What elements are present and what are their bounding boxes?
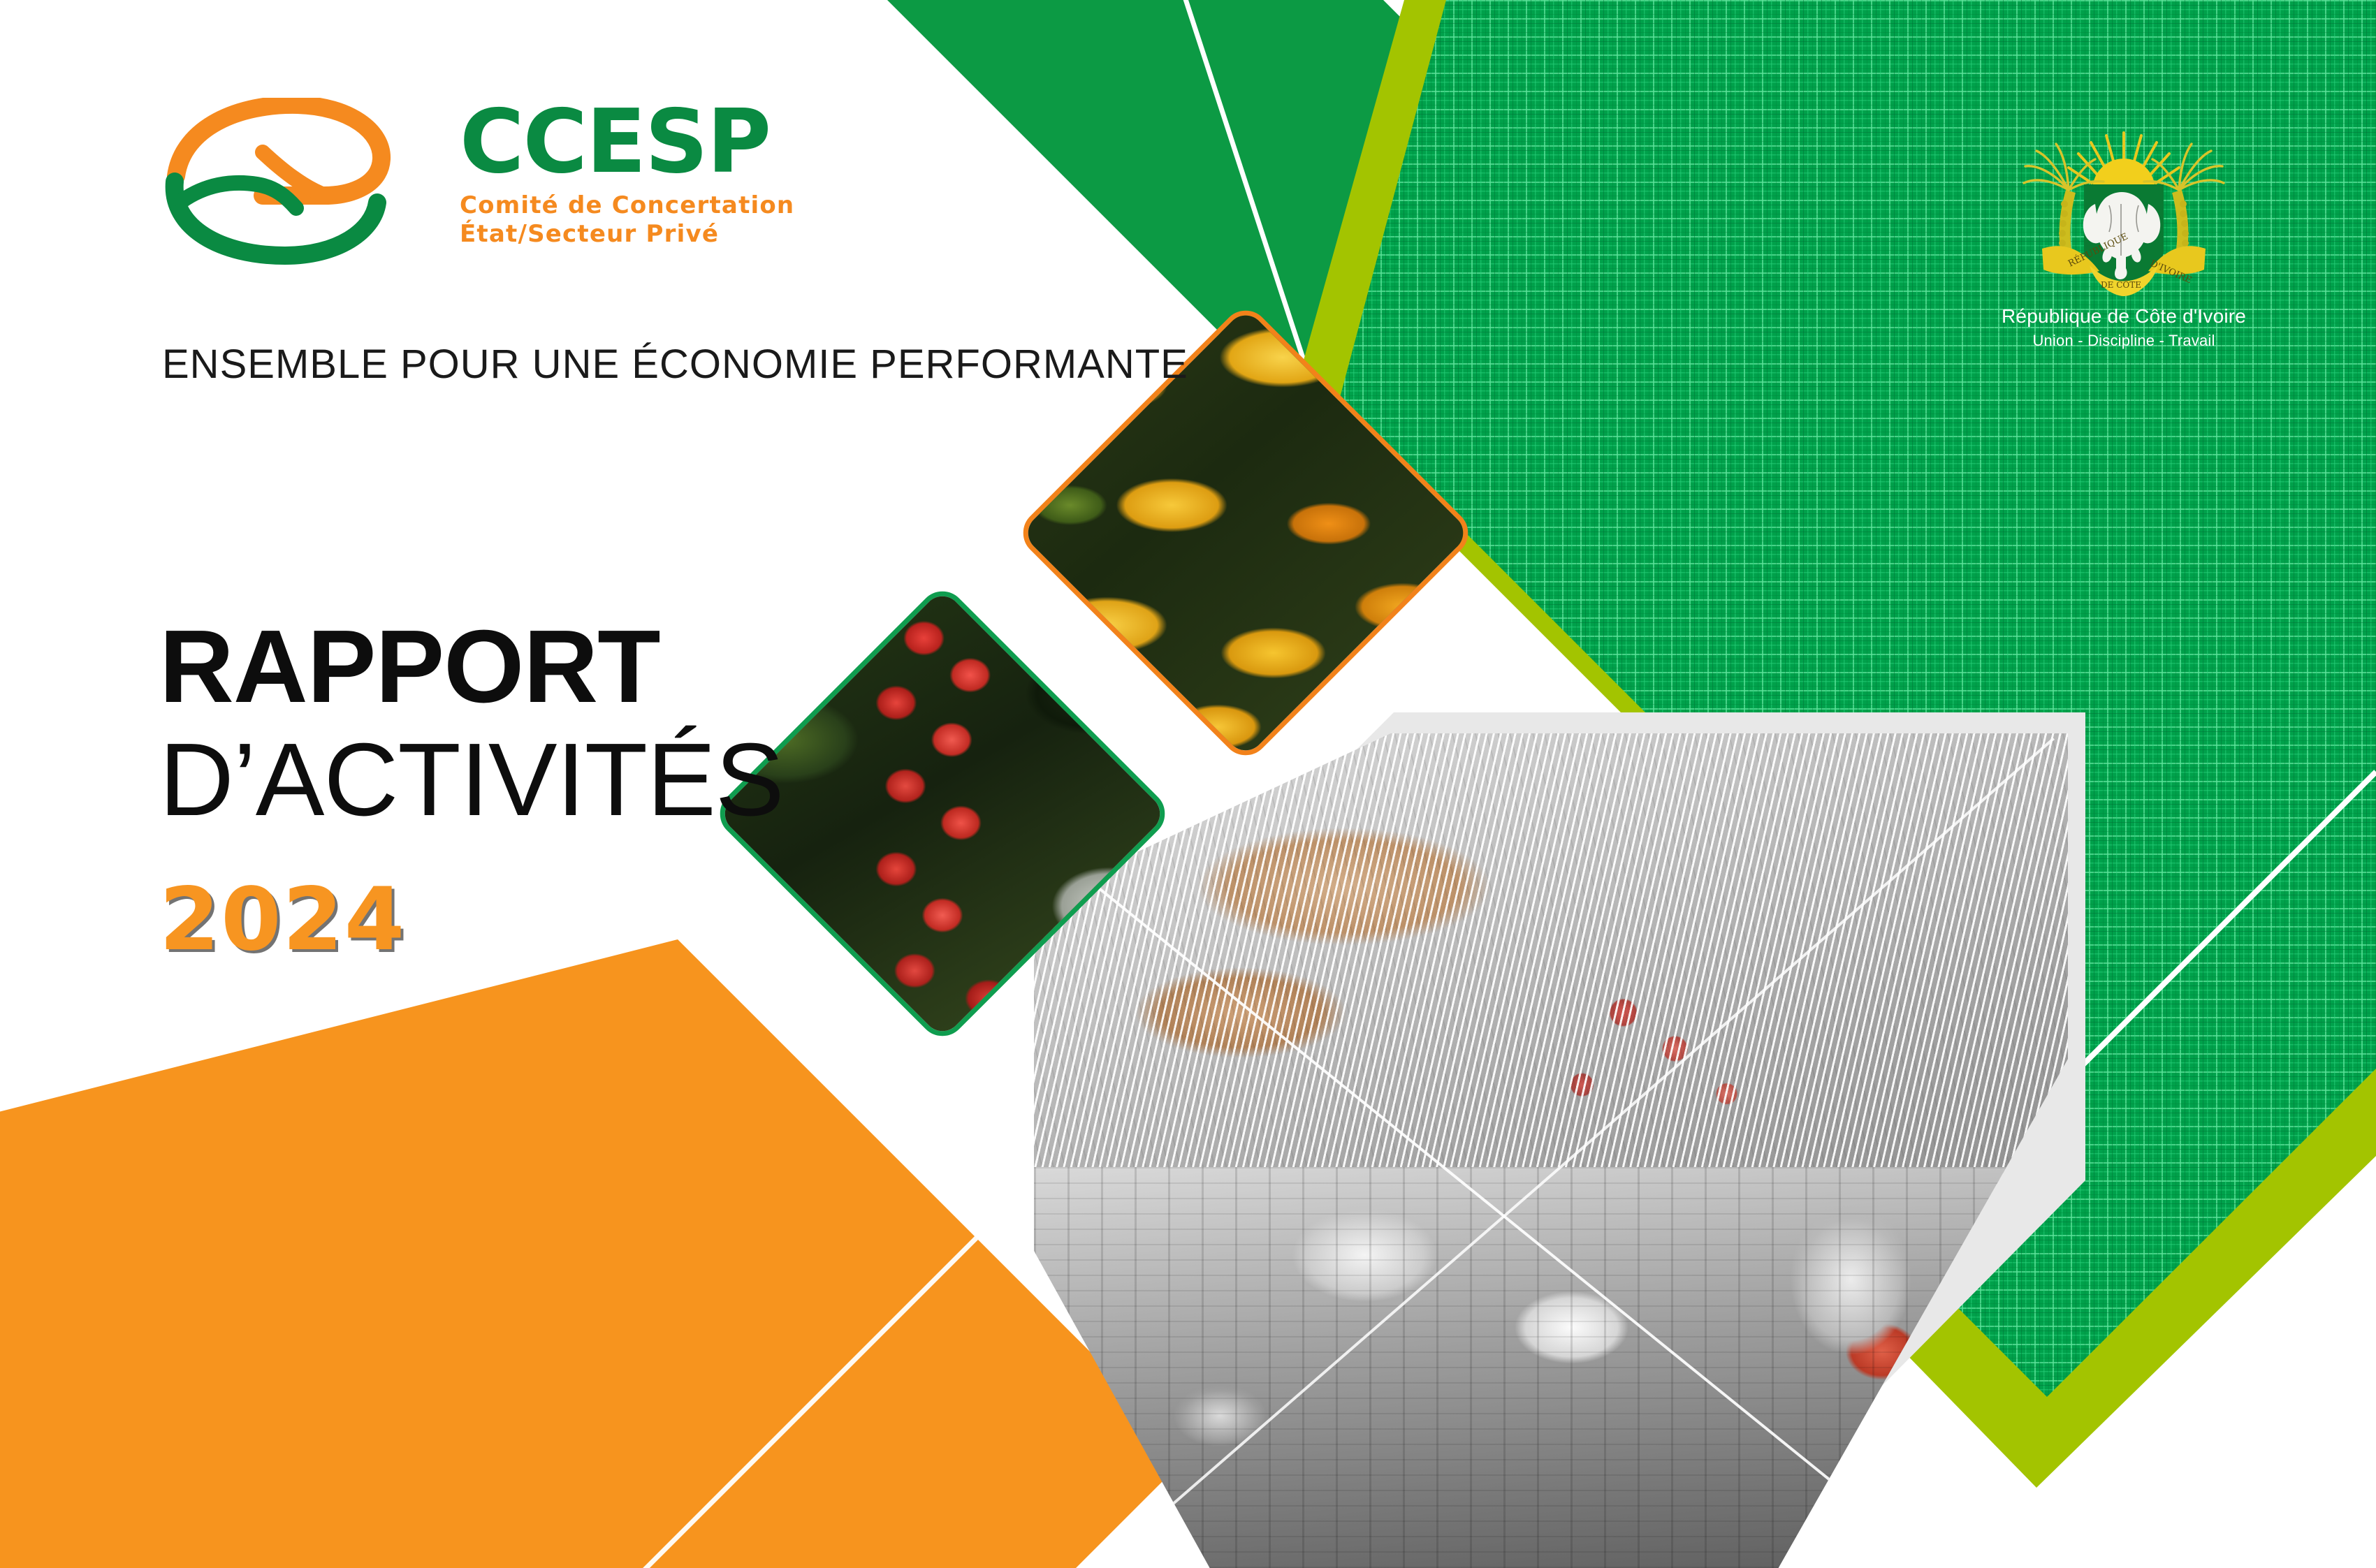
cote-divoire-coat-of-arms-icon: RÉPUBLIQUE D'IVOIRE DE CÔTE: [2022, 126, 2225, 304]
page-title-line-1: RAPPORT: [159, 615, 998, 720]
emblem-motto: Union - Discipline - Travail: [2002, 332, 2246, 350]
cover-title-block: RAPPORT D’ACTIVITÉS 2024: [159, 615, 998, 970]
state-emblem-block: RÉPUBLIQUE D'IVOIRE DE CÔTE République d…: [2002, 126, 2246, 350]
industry-photo-clip: [1034, 733, 2068, 1568]
ccesp-logo-text: CCESP Comité de Concertation État/Secteu…: [460, 98, 935, 249]
svg-text:DE CÔTE: DE CÔTE: [2101, 279, 2141, 290]
organization-tagline: ENSEMBLE POUR UNE ÉCONOMIE PERFORMANTE: [162, 341, 1188, 388]
report-year: 2024: [159, 870, 998, 970]
ccesp-swoosh-logo-icon: [159, 98, 446, 269]
factory-packaging-worker-photo: [1034, 1167, 2068, 1568]
ccesp-logo: CCESP Comité de Concertation État/Secteu…: [159, 98, 942, 279]
industry-photo-panel: [1034, 733, 2068, 1568]
emblem-country-name: République de Côte d'Ivoire: [2002, 305, 2246, 328]
report-cover: CCESP Comité de Concertation État/Secteu…: [0, 0, 2376, 1568]
page-title-line-2: D’ACTIVITÉS: [159, 724, 998, 836]
ccesp-acronym: CCESP: [460, 98, 935, 186]
ccesp-subtitle-line-1: Comité de Concertation: [460, 191, 935, 220]
ccesp-subtitle-line-2: État/Secteur Privé: [460, 220, 935, 249]
